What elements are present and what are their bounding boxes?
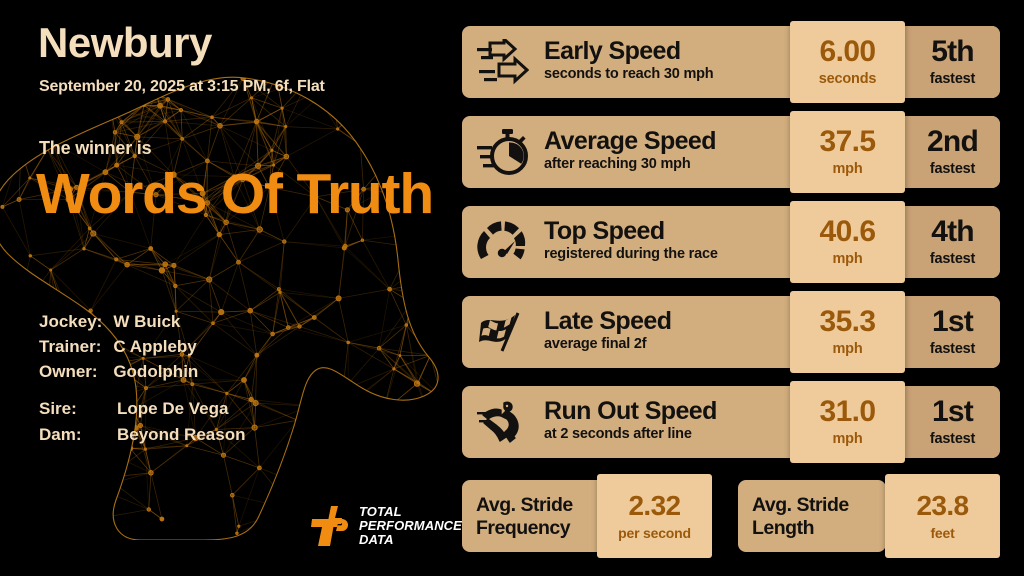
stopwatch-icon — [474, 126, 532, 178]
logo-line-2: PERFORMANCE — [359, 519, 462, 533]
pedigree-value: Lope De Vega — [117, 396, 245, 422]
logo-line-1: TOTAL — [359, 505, 462, 519]
stat-value-cell: 31.0 mph — [790, 381, 905, 463]
connection-label: Owner: — [39, 360, 113, 385]
stat-title: Early Speed — [544, 37, 713, 65]
logo-wordmark: TOTAL PERFORMANCE DATA — [359, 505, 462, 546]
connection-value: C Appleby — [113, 335, 198, 360]
stat-value-cell: 40.6 mph — [790, 201, 905, 283]
stat-rank: 2nd — [927, 127, 978, 157]
pedigree-label: Dam: — [39, 422, 117, 448]
stat-value: 37.5 — [820, 127, 876, 157]
racehorse-jockey-icon — [474, 396, 532, 448]
stat-unit: mph — [832, 431, 862, 447]
stat-subtitle: at 2 seconds after line — [544, 426, 717, 442]
logo-line-3: DATA — [359, 533, 462, 547]
stat-title: Run Out Speed — [544, 397, 717, 425]
stat-rank-sub: fastest — [930, 431, 975, 447]
stride-value: 2.32 — [628, 492, 680, 520]
checkered-flag-icon — [474, 306, 532, 358]
stride-frequency-box[interactable]: Avg. Stride Frequency 2.32 per second — [462, 480, 712, 552]
stat-value-cell: 35.3 mph — [790, 291, 905, 373]
left-panel: Newbury September 20, 2025 at 3:15 PM, 6… — [0, 0, 460, 576]
stat-unit: seconds — [819, 71, 876, 87]
stat-rank-sub: fastest — [930, 161, 975, 177]
winner-name: Words Of Truth — [36, 168, 436, 220]
stat-rank-cell: 2nd fastest — [905, 116, 1000, 188]
stride-label: Avg. Stride Length — [752, 494, 882, 541]
race-summary-graphic: Newbury September 20, 2025 at 3:15 PM, 6… — [0, 0, 1024, 576]
stat-rank-cell: 5th fastest — [905, 26, 1000, 98]
stat-rank-sub: fastest — [930, 71, 975, 87]
connection-row: Trainer: C Appleby — [39, 335, 198, 360]
connection-row: Jockey: W Buick — [39, 310, 198, 335]
page-title: Newbury — [38, 22, 212, 64]
stride-label: Avg. Stride Frequency — [476, 494, 606, 541]
stride-unit: feet — [930, 525, 954, 541]
stride-length-box[interactable]: Avg. Stride Length 23.8 feet — [738, 480, 1000, 552]
stat-text: Early Speed seconds to reach 30 mph — [544, 37, 713, 82]
stat-row-late-speed[interactable]: Late Speed average final 2f 35.3 mph 1st… — [462, 296, 1000, 368]
stat-row-run-out-speed[interactable]: Run Out Speed at 2 seconds after line 31… — [462, 386, 1000, 458]
stat-rank-cell: 1st fastest — [905, 296, 1000, 368]
pedigree-list: Sire: Lope De Vega Dam: Beyond Reason — [39, 396, 245, 447]
connections-list: Jockey: W Buick Trainer: C Appleby Owner… — [39, 310, 198, 385]
stat-row-average-speed[interactable]: Average Speed after reaching 30 mph 37.5… — [462, 116, 1000, 188]
race-meta: September 20, 2025 at 3:15 PM, 6f, Flat — [39, 78, 325, 96]
stat-text: Run Out Speed at 2 seconds after line — [544, 397, 717, 442]
stat-rank: 4th — [931, 217, 974, 247]
stat-unit: mph — [832, 251, 862, 267]
pedigree-row: Sire: Lope De Vega — [39, 396, 245, 422]
stride-value-cell: 2.32 per second — [597, 474, 712, 558]
pedigree-label: Sire: — [39, 396, 117, 422]
stat-title: Late Speed — [544, 307, 671, 335]
speedometer-icon — [474, 216, 532, 268]
stat-row-top-speed[interactable]: Top Speed registered during the race 40.… — [462, 206, 1000, 278]
stride-value-cell: 23.8 feet — [885, 474, 1000, 558]
brand-logo: TOTAL PERFORMANCE DATA — [311, 505, 462, 546]
stat-rank-cell: 4th fastest — [905, 206, 1000, 278]
stat-unit: mph — [832, 341, 862, 357]
stat-value-cell: 6.00 seconds — [790, 21, 905, 103]
connection-value: W Buick — [113, 310, 198, 335]
stat-value: 31.0 — [820, 397, 876, 427]
stat-text: Late Speed average final 2f — [544, 307, 671, 352]
stat-value-cell: 37.5 mph — [790, 111, 905, 193]
winner-label: The winner is — [39, 138, 151, 159]
stat-subtitle: average final 2f — [544, 336, 671, 352]
stat-row-early-speed[interactable]: Early Speed seconds to reach 30 mph 6.00… — [462, 26, 1000, 98]
connection-row: Owner: Godolphin — [39, 360, 198, 385]
stride-unit: per second — [618, 525, 691, 541]
pedigree-value: Beyond Reason — [117, 422, 245, 448]
stat-unit: mph — [832, 161, 862, 177]
speed-arrows-icon — [474, 36, 532, 88]
stat-value: 6.00 — [820, 37, 876, 67]
connection-label: Trainer: — [39, 335, 113, 360]
stat-rank-sub: fastest — [930, 341, 975, 357]
stat-title: Average Speed — [544, 127, 716, 155]
pedigree-row: Dam: Beyond Reason — [39, 422, 245, 448]
stat-rank-sub: fastest — [930, 251, 975, 267]
stat-text: Average Speed after reaching 30 mph — [544, 127, 716, 172]
stat-subtitle: after reaching 30 mph — [544, 156, 716, 172]
connection-label: Jockey: — [39, 310, 113, 335]
stat-rank: 5th — [931, 37, 974, 67]
stat-rank: 1st — [932, 397, 973, 427]
tpd-monogram-icon — [311, 506, 353, 546]
stat-value: 35.3 — [820, 307, 876, 337]
stat-title: Top Speed — [544, 217, 718, 245]
stat-value: 40.6 — [820, 217, 876, 247]
stats-panel: Early Speed seconds to reach 30 mph 6.00… — [462, 0, 1024, 576]
stat-rank-cell: 1st fastest — [905, 386, 1000, 458]
stat-subtitle: seconds to reach 30 mph — [544, 66, 713, 82]
stride-value: 23.8 — [916, 492, 968, 520]
connection-value: Godolphin — [113, 360, 198, 385]
stat-text: Top Speed registered during the race — [544, 217, 718, 262]
stat-rank: 1st — [932, 307, 973, 337]
stat-subtitle: registered during the race — [544, 246, 718, 262]
